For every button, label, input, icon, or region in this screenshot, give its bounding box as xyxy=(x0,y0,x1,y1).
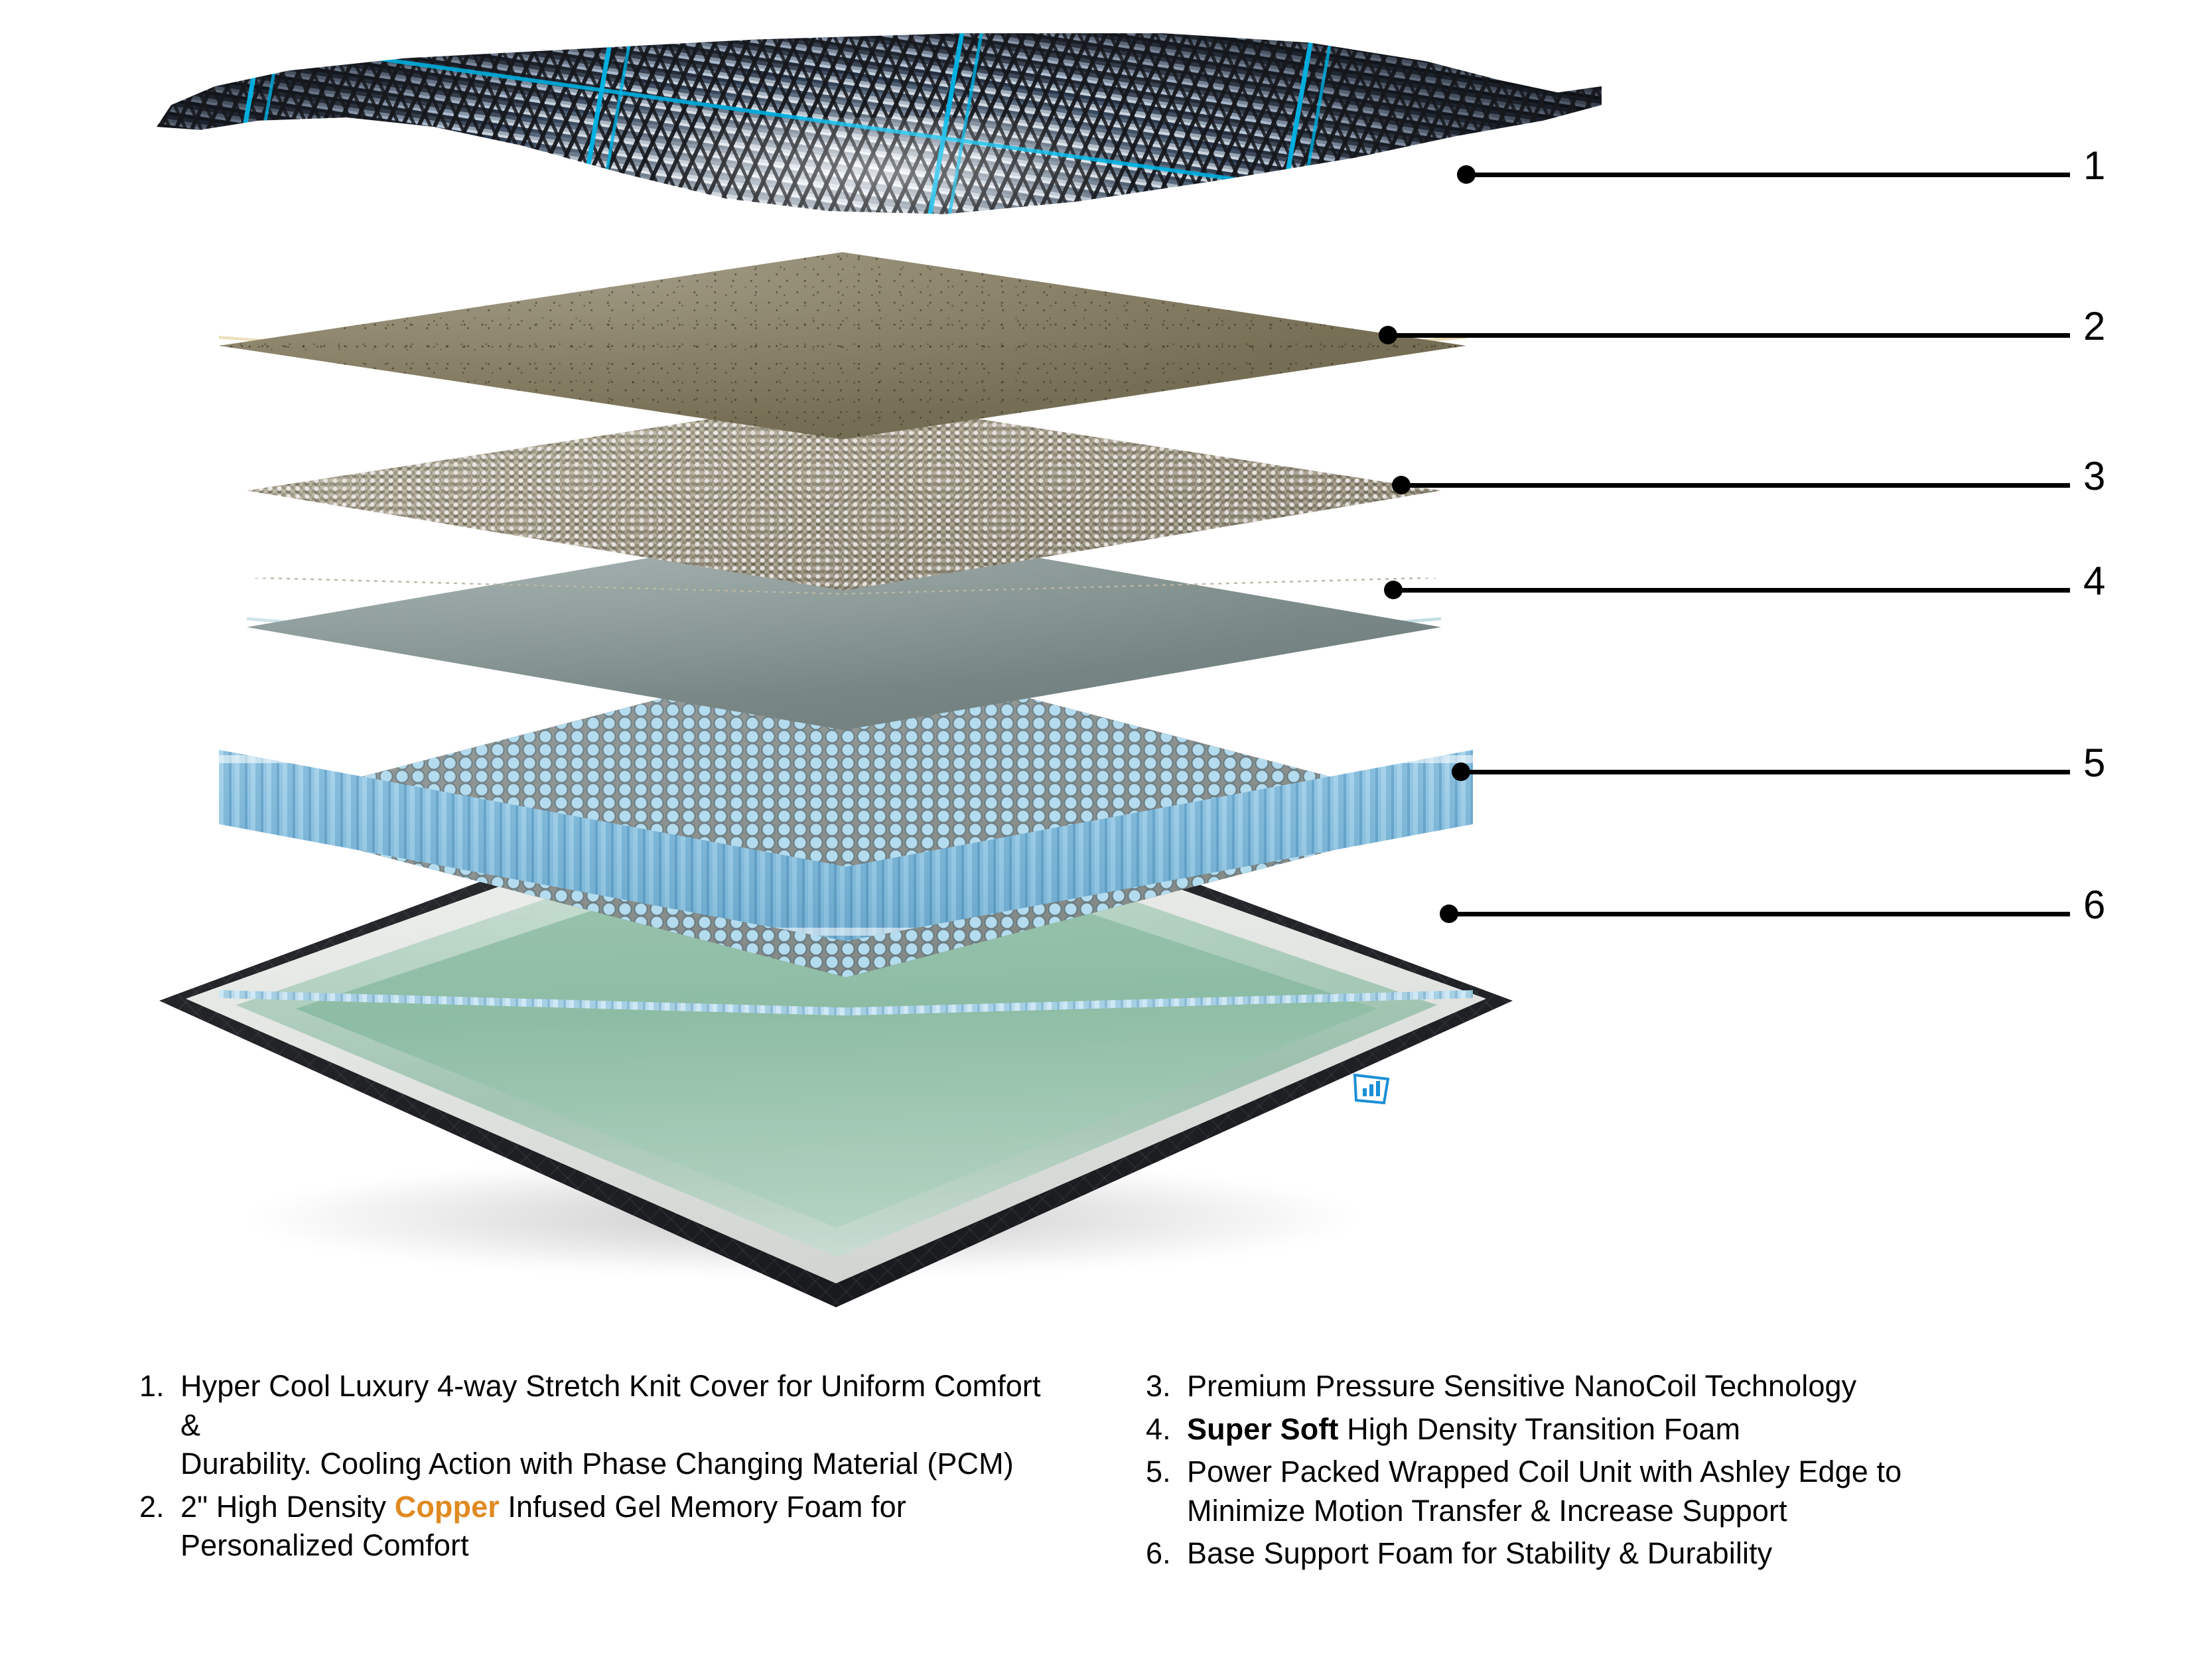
legend-item-2-post: Infused Gel Memory Foam for xyxy=(500,1490,906,1524)
legend-item-5: 5. Power Packed Wrapped Coil Unit with A… xyxy=(1146,1453,2073,1530)
legend-item-2: 2. 2" High Density Copper Infused Gel Me… xyxy=(139,1488,1066,1565)
callout-1-line xyxy=(1466,173,2070,177)
legend-item-1-line1: Hyper Cool Luxury 4-way Stretch Knit Cov… xyxy=(180,1369,1041,1442)
callout-3-number: 3 xyxy=(2083,457,2105,496)
legend-item-2-text: 2" High Density Copper Infused Gel Memor… xyxy=(180,1488,1066,1565)
legend-item-5-line1: Power Packed Wrapped Coil Unit with Ashl… xyxy=(1187,1455,1901,1488)
legend-item-4-bold: Super Soft xyxy=(1187,1412,1339,1446)
callout-3-line xyxy=(1401,483,2070,488)
legend-item-4-number: 4. xyxy=(1146,1410,1187,1449)
legend-item-2-copper: Copper xyxy=(395,1490,500,1524)
legend-item-1-number: 1. xyxy=(139,1367,180,1406)
callout-4-number: 4 xyxy=(2083,561,2105,601)
legend-item-3: 3. Premium Pressure Sensitive NanoCoil T… xyxy=(1146,1367,2073,1406)
legend-item-6-text: Base Support Foam for Stability & Durabi… xyxy=(1187,1534,2073,1573)
callout-5-line xyxy=(1461,770,2070,774)
legend-item-1: 1. Hyper Cool Luxury 4-way Stretch Knit … xyxy=(139,1367,1066,1484)
legend-item-2-number: 2. xyxy=(139,1488,180,1527)
legend-item-3-number: 3. xyxy=(1146,1367,1187,1406)
knit-cover-highlight xyxy=(638,117,1135,255)
mattress-exploded-diagram: 1 2 3 4 5 6 xyxy=(0,0,2212,1334)
callout-2-line xyxy=(1388,333,2070,338)
brand-badge-icon xyxy=(1351,1070,1392,1108)
callout-4-line xyxy=(1393,588,2070,593)
callout-5-number: 5 xyxy=(2083,743,2105,783)
callout-1-number: 1 xyxy=(2083,146,2105,186)
legend-item-4-rest: High Density Transition Foam xyxy=(1339,1412,1741,1446)
legend: 1. Hyper Cool Luxury 4-way Stretch Knit … xyxy=(0,1367,2212,1646)
legend-right-column: 3. Premium Pressure Sensitive NanoCoil T… xyxy=(1146,1367,2073,1646)
legend-item-4: 4. Super Soft High Density Transition Fo… xyxy=(1146,1410,2073,1449)
legend-item-5-text: Power Packed Wrapped Coil Unit with Ashl… xyxy=(1187,1453,2073,1530)
knit-cover-surface xyxy=(142,24,1602,336)
callout-6-line xyxy=(1449,912,2070,916)
legend-item-2-line2: Personalized Comfort xyxy=(180,1528,469,1562)
legend-item-5-number: 5. xyxy=(1146,1453,1187,1492)
layer-knit-cover xyxy=(142,24,1602,336)
legend-item-6: 6. Base Support Foam for Stability & Dur… xyxy=(1146,1534,2073,1573)
callout-2-number: 2 xyxy=(2083,307,2105,346)
legend-left-column: 1. Hyper Cool Luxury 4-way Stretch Knit … xyxy=(139,1367,1066,1646)
legend-item-4-text: Super Soft High Density Transition Foam xyxy=(1187,1410,2073,1449)
callout-6-number: 6 xyxy=(2083,885,2105,925)
legend-item-1-text: Hyper Cool Luxury 4-way Stretch Knit Cov… xyxy=(180,1367,1066,1484)
legend-item-2-pre: 2" High Density xyxy=(180,1490,395,1524)
legend-item-3-text: Premium Pressure Sensitive NanoCoil Tech… xyxy=(1187,1367,2073,1406)
legend-item-5-line2: Minimize Motion Transfer & Increase Supp… xyxy=(1187,1494,1787,1528)
legend-item-1-line2: Durability. Cooling Action with Phase Ch… xyxy=(180,1447,1014,1480)
legend-item-6-number: 6. xyxy=(1146,1534,1187,1573)
